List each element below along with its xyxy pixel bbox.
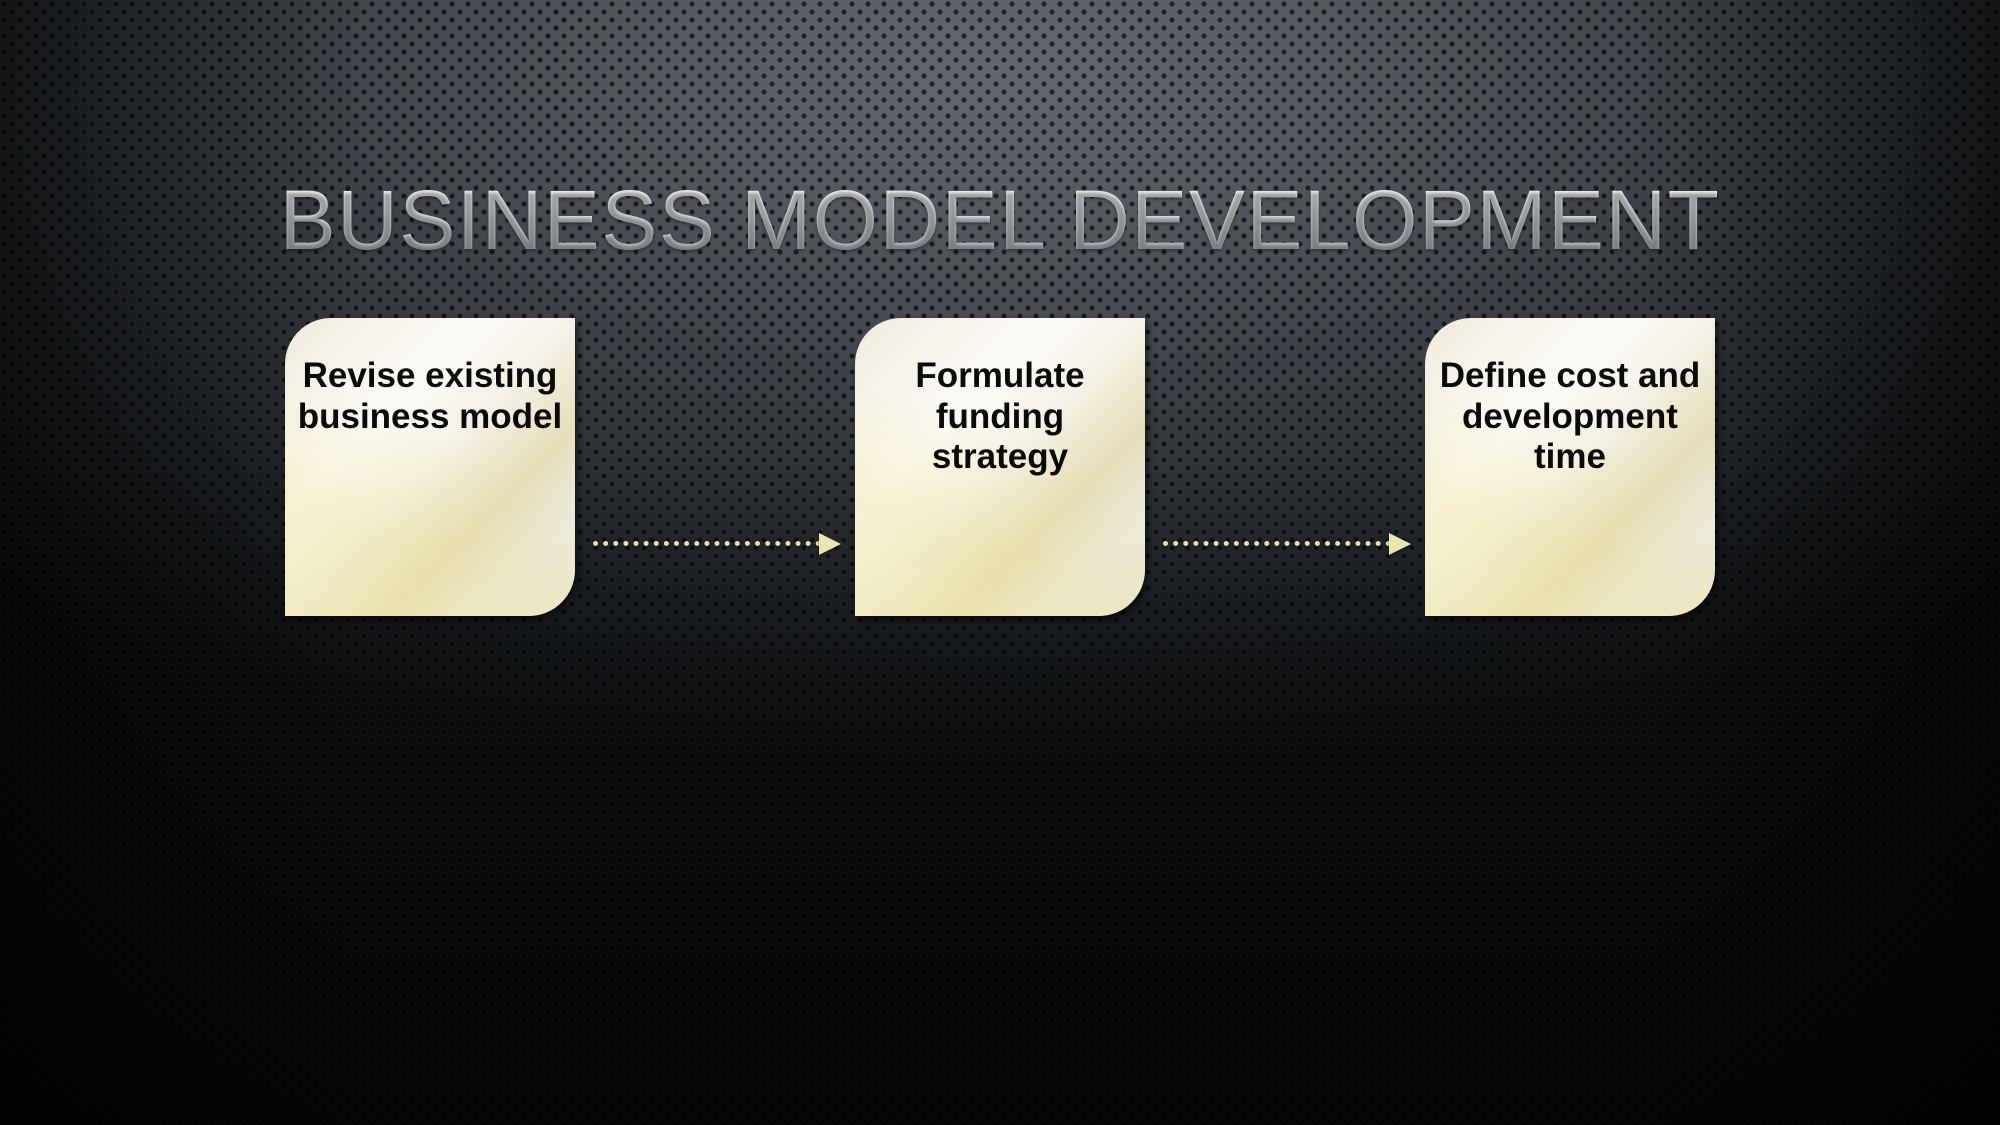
slide-canvas: BUSINESS MODEL DEVELOPMENT Revise existi… <box>0 0 2000 1125</box>
process-step-1[interactable]: Revise existing business model <box>285 318 575 616</box>
process-step-3[interactable]: Define cost and development time <box>1425 318 1715 616</box>
process-step-2[interactable]: Formulate funding strategy <box>855 318 1145 616</box>
arrow-head-icon <box>1389 533 1411 555</box>
arrow-line-icon <box>1163 541 1391 546</box>
arrow-head-icon <box>819 533 841 555</box>
process-step-1-label: Revise existing business model <box>285 356 575 437</box>
connector-arrow-1 <box>575 318 855 616</box>
arrow-line-icon <box>593 541 821 546</box>
connector-arrow-2 <box>1145 318 1425 616</box>
process-step-2-label: Formulate funding strategy <box>855 356 1145 478</box>
process-flow-diagram: Revise existing business model Formulate… <box>0 318 2000 618</box>
process-step-3-label: Define cost and development time <box>1425 356 1715 478</box>
page-title: BUSINESS MODEL DEVELOPMENT <box>0 178 2000 262</box>
